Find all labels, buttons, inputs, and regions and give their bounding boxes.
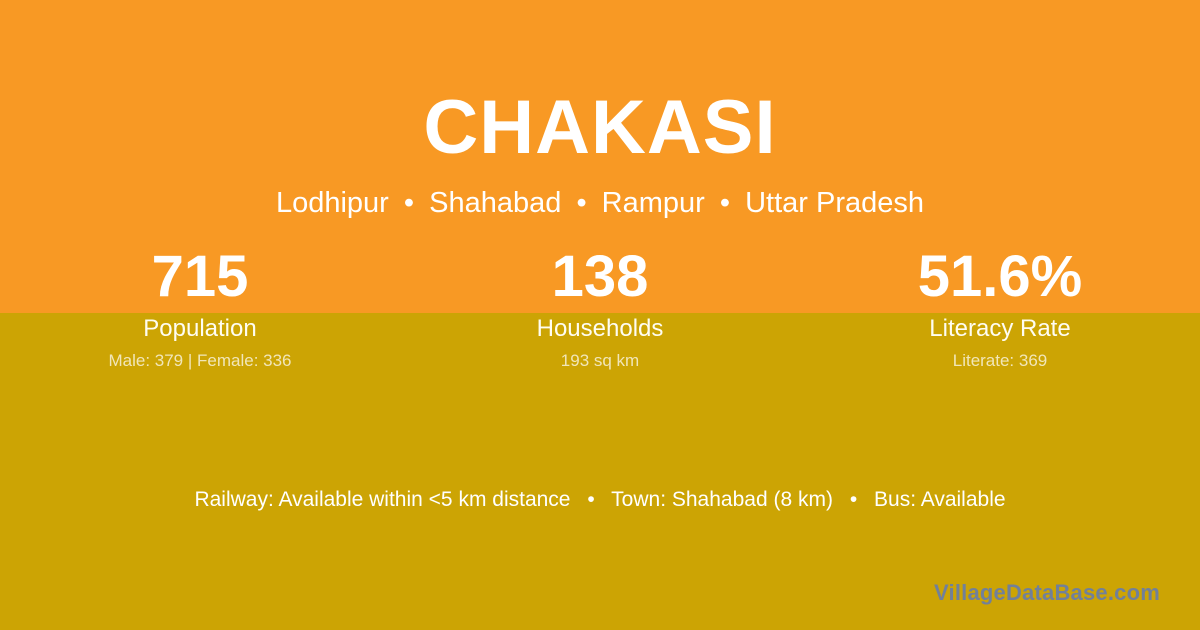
amenities-line: Railway: Available within <5 km distance…: [0, 486, 1200, 514]
stat-households: 138 Households 193 sq km: [400, 246, 800, 372]
amenity-separator: •: [576, 486, 605, 514]
stat-literacy-rate: 51.6% Literacy Rate Literate: 369: [800, 246, 1200, 372]
amenity-railway: Railway: Available within <5 km distance: [194, 488, 570, 511]
amenity-bus: Bus: Available: [874, 488, 1006, 511]
stat-label: Households: [400, 314, 800, 344]
site-brand-logo[interactable]: VillageDataBase.com: [934, 580, 1160, 606]
stat-population: 715 Population Male: 379 | Female: 336: [0, 246, 400, 372]
stats-row: 715 Population Male: 379 | Female: 336 1…: [0, 246, 1200, 372]
stat-subtext: Literate: 369: [800, 350, 1200, 372]
hero-section: CHAKASI Lodhipur • Shahabad • Rampur • U…: [0, 0, 1200, 220]
breadcrumb: Lodhipur • Shahabad • Rampur • Uttar Pra…: [0, 186, 1200, 220]
amenity-separator: •: [839, 486, 868, 514]
breadcrumb-separator: •: [569, 186, 593, 220]
stat-subtext: 193 sq km: [400, 350, 800, 372]
breadcrumb-item-2: Rampur: [602, 187, 705, 219]
page-title: CHAKASI: [0, 84, 1200, 172]
breadcrumb-item-3: Uttar Pradesh: [745, 187, 924, 219]
amenity-town: Town: Shahabad (8 km): [611, 488, 833, 511]
stat-subtext: Male: 379 | Female: 336: [0, 350, 400, 372]
stat-label: Population: [0, 314, 400, 344]
breadcrumb-separator: •: [397, 186, 421, 220]
stat-value: 51.6%: [800, 246, 1200, 308]
stat-value: 715: [0, 246, 400, 308]
stat-value: 138: [400, 246, 800, 308]
breadcrumb-item-0: Lodhipur: [276, 187, 389, 219]
breadcrumb-separator: •: [713, 186, 737, 220]
stat-label: Literacy Rate: [800, 314, 1200, 344]
breadcrumb-item-1: Shahabad: [429, 187, 561, 219]
village-info-card: CHAKASI Lodhipur • Shahabad • Rampur • U…: [0, 0, 1200, 630]
